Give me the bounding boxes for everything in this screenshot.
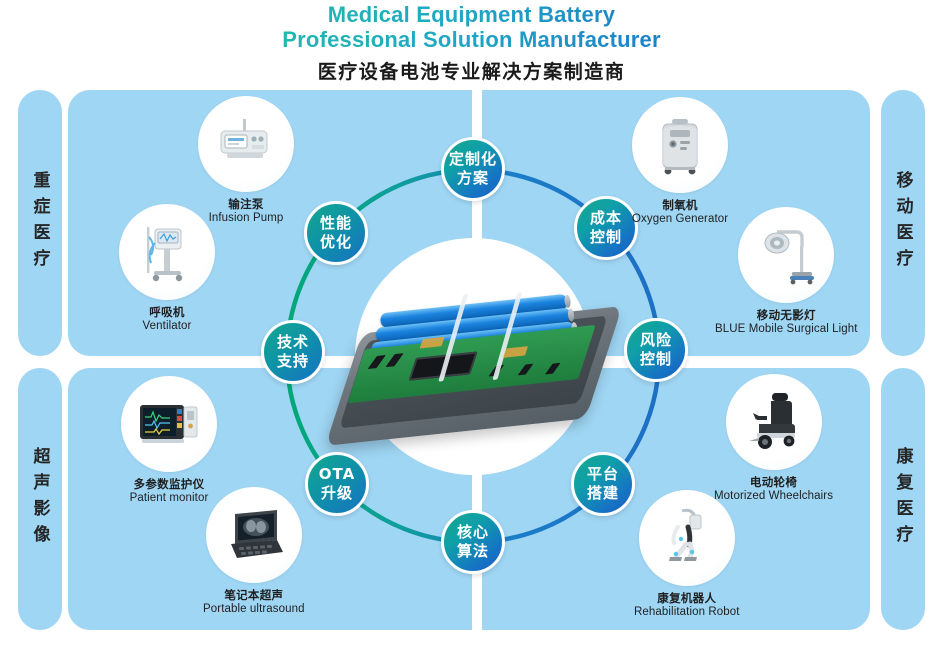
product-caption-ventilator: 呼吸机 Ventilator <box>143 305 192 333</box>
keyword-line1: 风险 <box>640 331 672 350</box>
keyword-line1: 平台 <box>587 465 619 484</box>
product-caption-portable-ultrasound: 笔记本超声 Portable ultrasound <box>203 588 305 616</box>
keyword-line2: 控制 <box>640 350 672 369</box>
category-label-rehabilitation: 康复医疗 <box>891 447 916 551</box>
product-name-cn: 多参数监护仪 <box>130 477 209 491</box>
keyword-node-tech-support[interactable]: 技术 支持 <box>261 320 325 384</box>
product-image-portable-ultrasound <box>206 487 302 583</box>
keyword-node-custom-solution[interactable]: 定制化 方案 <box>441 137 505 201</box>
portable-ultrasound-icon <box>215 496 293 574</box>
keyword-line1: 性能 <box>320 214 352 233</box>
category-label-mobile-medical: 移动医疗 <box>891 171 916 275</box>
product-name-cn: 呼吸机 <box>143 305 192 319</box>
keyword-line1: 定制化 <box>449 150 497 169</box>
product-name-en: Oxygen Generator <box>632 212 728 226</box>
product-name-en: Ventilator <box>143 319 192 333</box>
product-name-cn: 制氧机 <box>632 198 728 212</box>
keyword-line1: 技术 <box>277 333 309 352</box>
page-title: Medical Equipment Battery Professional S… <box>0 2 943 84</box>
product-caption-infusion-pump: 输注泵 Infusion Pump <box>209 197 284 225</box>
surgical-light-icon <box>747 216 825 294</box>
product-node-portable-ultrasound[interactable]: 笔记本超声 Portable ultrasound <box>203 487 305 616</box>
keyword-line2: 方案 <box>457 169 489 188</box>
product-node-ventilator[interactable]: 呼吸机 Ventilator <box>119 204 215 333</box>
rehabilitation-robot-icon <box>648 499 726 577</box>
ventilator-icon <box>128 213 206 291</box>
product-image-motorized-wheelchair <box>726 374 822 470</box>
keyword-node-performance-optimization[interactable]: 性能 优化 <box>304 201 368 265</box>
keyword-line2: 算法 <box>457 542 489 561</box>
infographic-canvas: Medical Equipment Battery Professional S… <box>0 0 943 645</box>
category-pill-rehabilitation[interactable]: 康复医疗 <box>881 368 925 630</box>
keyword-line1: 核心 <box>457 523 489 542</box>
keyword-node-core-algorithm[interactable]: 核心 算法 <box>441 510 505 574</box>
product-caption-patient-monitor: 多参数监护仪 Patient monitor <box>130 477 209 505</box>
product-image-patient-monitor <box>121 376 217 472</box>
product-image-ventilator <box>119 204 215 300</box>
keyword-line2: 优化 <box>320 233 352 252</box>
product-caption-surgical-light: 移动无影灯 BLUE Mobile Surgical Light <box>715 308 858 336</box>
keyword-line1: 成本 <box>590 209 622 228</box>
category-pill-ultrasound-imaging[interactable]: 超声影像 <box>18 368 62 630</box>
infusion-pump-icon <box>207 105 285 183</box>
product-name-cn: 电动轮椅 <box>714 475 833 489</box>
keyword-node-cost-control[interactable]: 成本 控制 <box>574 196 638 260</box>
product-name-en: BLUE Mobile Surgical Light <box>715 322 858 336</box>
category-pill-mobile-medical[interactable]: 移动医疗 <box>881 90 925 356</box>
product-image-rehabilitation-robot <box>639 490 735 586</box>
product-name-en: Patient monitor <box>130 491 209 505</box>
category-pill-critical-care[interactable]: 重症医疗 <box>18 90 62 356</box>
keyword-line2: 控制 <box>590 228 622 247</box>
product-image-infusion-pump <box>198 96 294 192</box>
product-name-en: Portable ultrasound <box>203 602 305 616</box>
title-chinese: 医疗设备电池专业解决方案制造商 <box>0 57 943 84</box>
patient-monitor-icon <box>130 385 208 463</box>
product-node-rehabilitation-robot[interactable]: 康复机器人 Rehabilitation Robot <box>634 490 740 619</box>
product-caption-oxygen-generator: 制氧机 Oxygen Generator <box>632 198 728 226</box>
title-english-line2: Professional Solution Manufacturer <box>0 27 943 52</box>
title-english-line1: Medical Equipment Battery <box>0 2 943 27</box>
product-node-surgical-light[interactable]: 移动无影灯 BLUE Mobile Surgical Light <box>715 207 858 336</box>
keyword-node-risk-control[interactable]: 风险 控制 <box>624 318 688 382</box>
product-name-cn: 移动无影灯 <box>715 308 858 322</box>
oxygen-generator-icon <box>641 106 719 184</box>
product-node-patient-monitor[interactable]: 多参数监护仪 Patient monitor <box>121 376 217 505</box>
battery-pack-image <box>330 274 615 461</box>
product-image-oxygen-generator <box>632 97 728 193</box>
keyword-line2: 升级 <box>321 484 353 503</box>
category-label-ultrasound-imaging: 超声影像 <box>28 447 53 551</box>
keyword-node-platform-build[interactable]: 平台 搭建 <box>571 452 635 516</box>
keyword-node-ota-upgrade[interactable]: OTA 升级 <box>305 452 369 516</box>
product-name-en: Rehabilitation Robot <box>634 605 740 619</box>
product-node-motorized-wheelchair[interactable]: 电动轮椅 Motorized Wheelchairs <box>714 374 833 503</box>
product-name-en: Infusion Pump <box>209 211 284 225</box>
keyword-line1: OTA <box>319 465 355 484</box>
category-label-critical-care: 重症医疗 <box>28 171 53 275</box>
product-name-cn: 输注泵 <box>209 197 284 211</box>
product-name-cn: 康复机器人 <box>634 591 740 605</box>
product-name-cn: 笔记本超声 <box>203 588 305 602</box>
keyword-line2: 搭建 <box>587 484 619 503</box>
keyword-line2: 支持 <box>277 352 309 371</box>
product-image-surgical-light <box>738 207 834 303</box>
product-caption-rehabilitation-robot: 康复机器人 Rehabilitation Robot <box>634 591 740 619</box>
motorized-wheelchair-icon <box>735 383 813 461</box>
product-node-oxygen-generator[interactable]: 制氧机 Oxygen Generator <box>632 97 728 226</box>
